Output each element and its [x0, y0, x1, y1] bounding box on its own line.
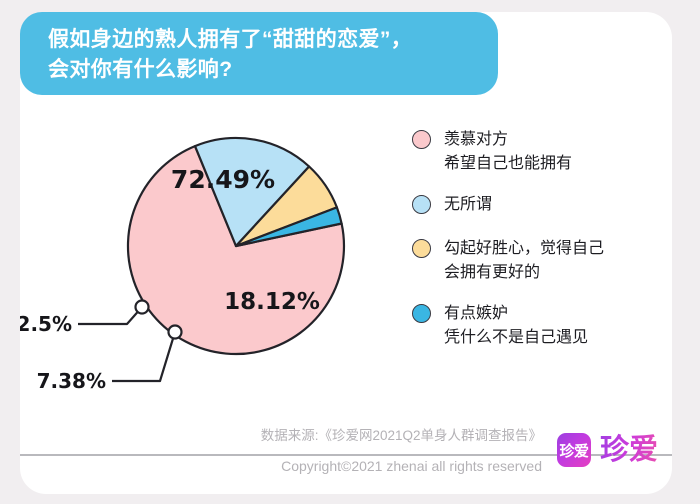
- legend-label-0: 羡慕对方 希望自己也能拥有: [444, 128, 572, 176]
- legend-label-2: 勾起好胜心，觉得自己 会拥有更好的: [444, 237, 604, 285]
- legend-item-2[interactable]: 勾起好胜心，觉得自己 会拥有更好的: [412, 237, 672, 285]
- callout-line-yellow: [112, 332, 175, 381]
- footer: 数据来源:《珍爱网2021Q2单身人群调查报告》 Copyright©2021 …: [20, 424, 672, 494]
- copyright-text: Copyright©2021 zhenai all rights reserve…: [112, 452, 542, 480]
- brand-mark-icon: 珍爱: [557, 433, 591, 467]
- question-header-bar: 假如身边的熟人拥有了“甜甜的恋爱”， 会对你有什么影响?: [20, 12, 498, 95]
- callout-marker-cyan: [136, 301, 149, 314]
- legend-item-3[interactable]: 有点嫉妒 凭什么不是自己遇见: [412, 302, 672, 350]
- question-title-line-2: 会对你有什么影响?: [48, 55, 478, 85]
- data-source-text: 数据来源:《珍爱网2021Q2单身人群调查报告》: [112, 424, 542, 448]
- pie-value-label-primary: 72.49%: [171, 165, 275, 194]
- callout-line-cyan: [78, 307, 142, 324]
- legend-swatch-yellow-icon: [412, 239, 431, 258]
- legend-swatch-cyan-icon: [412, 304, 431, 323]
- brand-wordmark: 珍爱: [600, 433, 658, 467]
- brand-logo[interactable]: 珍爱 珍爱: [557, 433, 658, 467]
- infographic-canvas: 假如身边的熟人拥有了“甜甜的恋爱”， 会对你有什么影响? 72.49% 18.1…: [0, 0, 700, 504]
- callout-marker-yellow: [169, 326, 182, 339]
- callout-label-cyan: 2.5%: [20, 312, 72, 336]
- pie-value-label-secondary: 18.12%: [224, 289, 320, 315]
- callout-label-yellow: 7.38%: [37, 369, 106, 393]
- legend-item-1[interactable]: 无所谓: [412, 193, 672, 217]
- legend-label-3: 有点嫉妒 凭什么不是自己遇见: [444, 302, 588, 350]
- question-title-line-1: 假如身边的熟人拥有了“甜甜的恋爱”，: [48, 25, 478, 55]
- legend-swatch-lightblue-icon: [412, 195, 431, 214]
- pie-chart-svg: 72.49% 18.12% 2.5% 7.38%: [20, 100, 420, 410]
- legend-label-1: 无所谓: [444, 193, 492, 217]
- footer-text-block: 数据来源:《珍爱网2021Q2单身人群调查报告》 Copyright©2021 …: [112, 424, 542, 480]
- legend-swatch-pink-icon: [412, 130, 431, 149]
- chart-legend: 羡慕对方 希望自己也能拥有 无所谓 勾起好胜心，觉得自己 会拥有更好的 有点嫉妒…: [412, 128, 672, 350]
- legend-item-0[interactable]: 羡慕对方 希望自己也能拥有: [412, 128, 672, 176]
